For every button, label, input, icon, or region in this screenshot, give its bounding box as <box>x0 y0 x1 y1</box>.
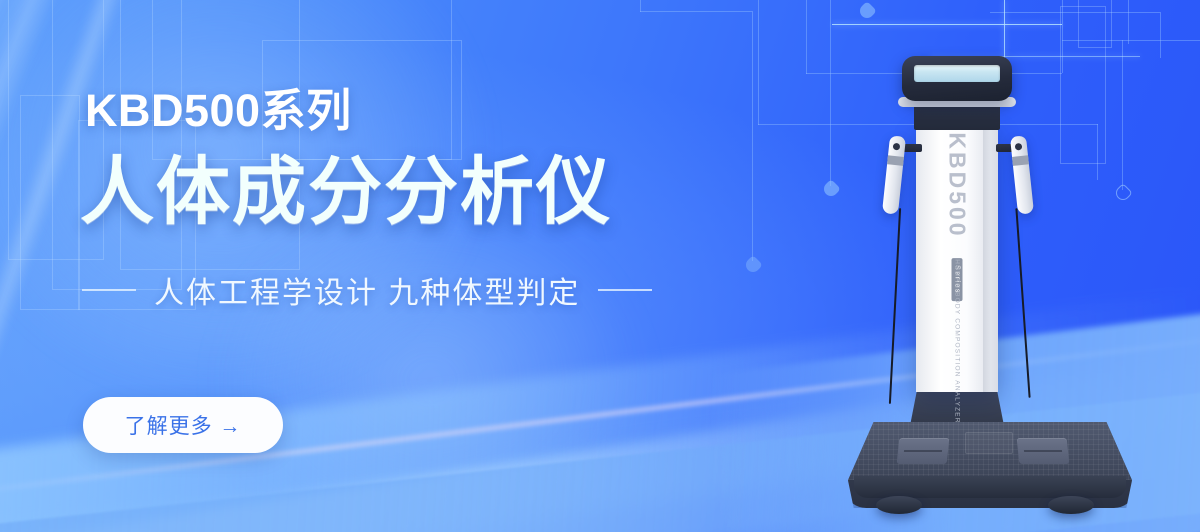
product-hero-banner: KBD500 Series HUMAN BODY COMPOSITION ANA… <box>0 0 1200 532</box>
learn-more-button-label: 了解更多 → <box>125 410 242 440</box>
foot-electrode-right-line <box>1024 450 1062 452</box>
circuit-line-v10 <box>1128 0 1129 44</box>
learn-more-button[interactable]: 了解更多 → <box>83 397 283 453</box>
circuit-line-h4 <box>990 12 1160 13</box>
light-beam-2 <box>0 0 73 479</box>
circuit-line-v7 <box>830 0 831 186</box>
product-image-kbd500: KBD500 Series HUMAN BODY COMPOSITION ANA… <box>840 40 1140 520</box>
electrode-cable-right <box>1015 208 1030 398</box>
device-neck <box>914 104 1000 130</box>
hand-electrode-left-band <box>887 155 904 166</box>
device-display-head <box>902 56 1012 101</box>
device-caption-label: HUMAN BODY COMPOSITION ANALYZER <box>954 259 961 423</box>
hand-electrode-right-band <box>1012 155 1029 166</box>
hand-electrode-left <box>882 135 906 214</box>
circuit-line-v5 <box>806 0 807 74</box>
circuit-node-2 <box>821 179 841 199</box>
subtitle-row: 人体工程学设计 九种体型判定 <box>82 268 652 312</box>
circuit-node-3 <box>857 1 877 21</box>
device-column: KBD500 Series HUMAN BODY COMPOSITION ANA… <box>916 126 998 392</box>
circuit-node-1 <box>743 255 763 275</box>
hand-electrode-left-button <box>893 143 901 151</box>
light-beam-1 <box>0 0 24 474</box>
device-column-stripe <box>983 126 991 392</box>
device-platform-center-plate <box>965 432 1013 454</box>
device-foot-right <box>1048 496 1094 514</box>
circuit-line-v2 <box>752 11 753 261</box>
electrode-cable-left <box>889 208 901 404</box>
hand-electrode-right <box>1010 135 1034 214</box>
foot-electrode-left-line <box>904 450 942 452</box>
foot-electrode-left <box>897 438 950 464</box>
circuit-glow-line-1 <box>832 24 1062 25</box>
subtitle-dash-left <box>82 289 136 291</box>
hero-text-block: KBD500系列 人体成分分析仪 人体工程学设计 九种体型判定 了解更多 → <box>80 0 720 532</box>
subtitle-dash-right <box>598 289 652 291</box>
device-platform-front <box>854 476 1126 498</box>
subtitle-text: 人体工程学设计 九种体型判定 <box>154 268 580 312</box>
product-series-title: KBD500系列 <box>85 74 352 139</box>
foot-electrode-right <box>1017 438 1070 464</box>
decor-rect-4 <box>20 95 80 310</box>
device-brand-label: KBD500 <box>944 132 971 238</box>
circuit-line-v3 <box>758 0 759 125</box>
device-lcd-screen <box>914 65 1000 82</box>
circuit-line-v8 <box>1160 12 1161 58</box>
hand-electrode-right-button <box>1015 143 1023 151</box>
device-foot-left <box>876 496 922 514</box>
page-title: 人体成分分析仪 <box>80 132 612 239</box>
